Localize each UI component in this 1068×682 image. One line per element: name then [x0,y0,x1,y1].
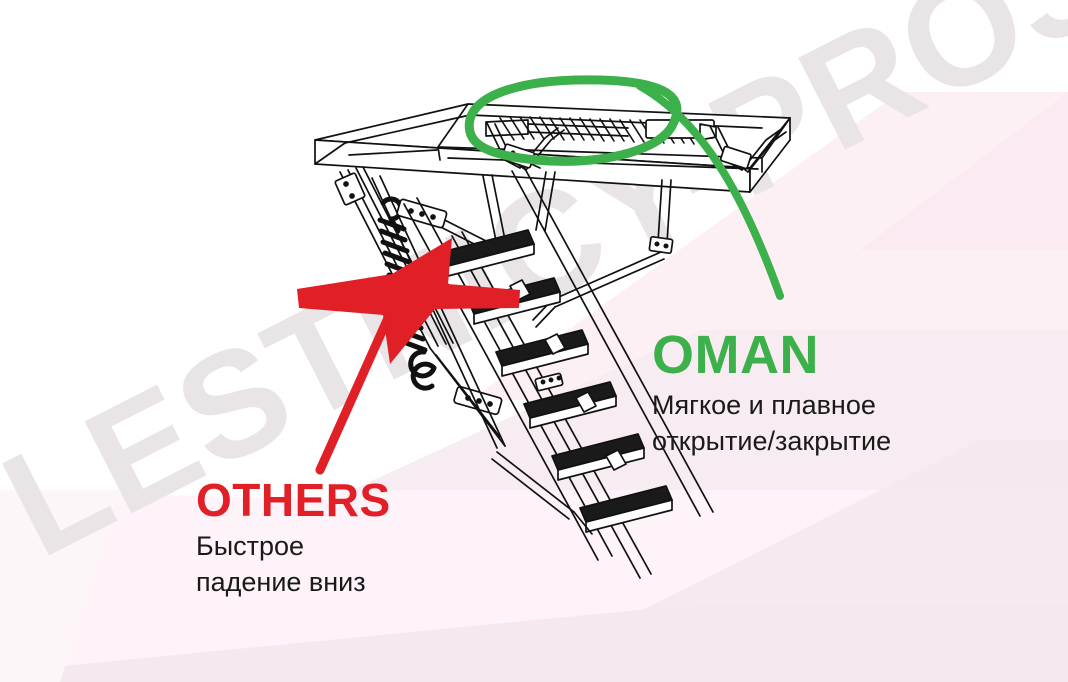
callout-others: OTHERS Быстрое падение вниз [196,477,391,601]
callout-oman-line-2: открытие/закрытие [652,424,891,460]
callout-others-line-1: Быстрое [196,529,391,565]
text-callouts: OMAN Мягкое и плавное открытие/закрытие … [0,0,1068,682]
callout-oman-title: OMAN [652,328,891,382]
infographic-canvas: LESTNICY-PROSTO.RU [0,0,1068,682]
callout-others-title: OTHERS [196,477,391,523]
callout-oman-line-1: Мягкое и плавное [652,388,891,424]
callout-oman: OMAN Мягкое и плавное открытие/закрытие [652,328,891,460]
callout-others-line-2: падение вниз [196,565,391,601]
